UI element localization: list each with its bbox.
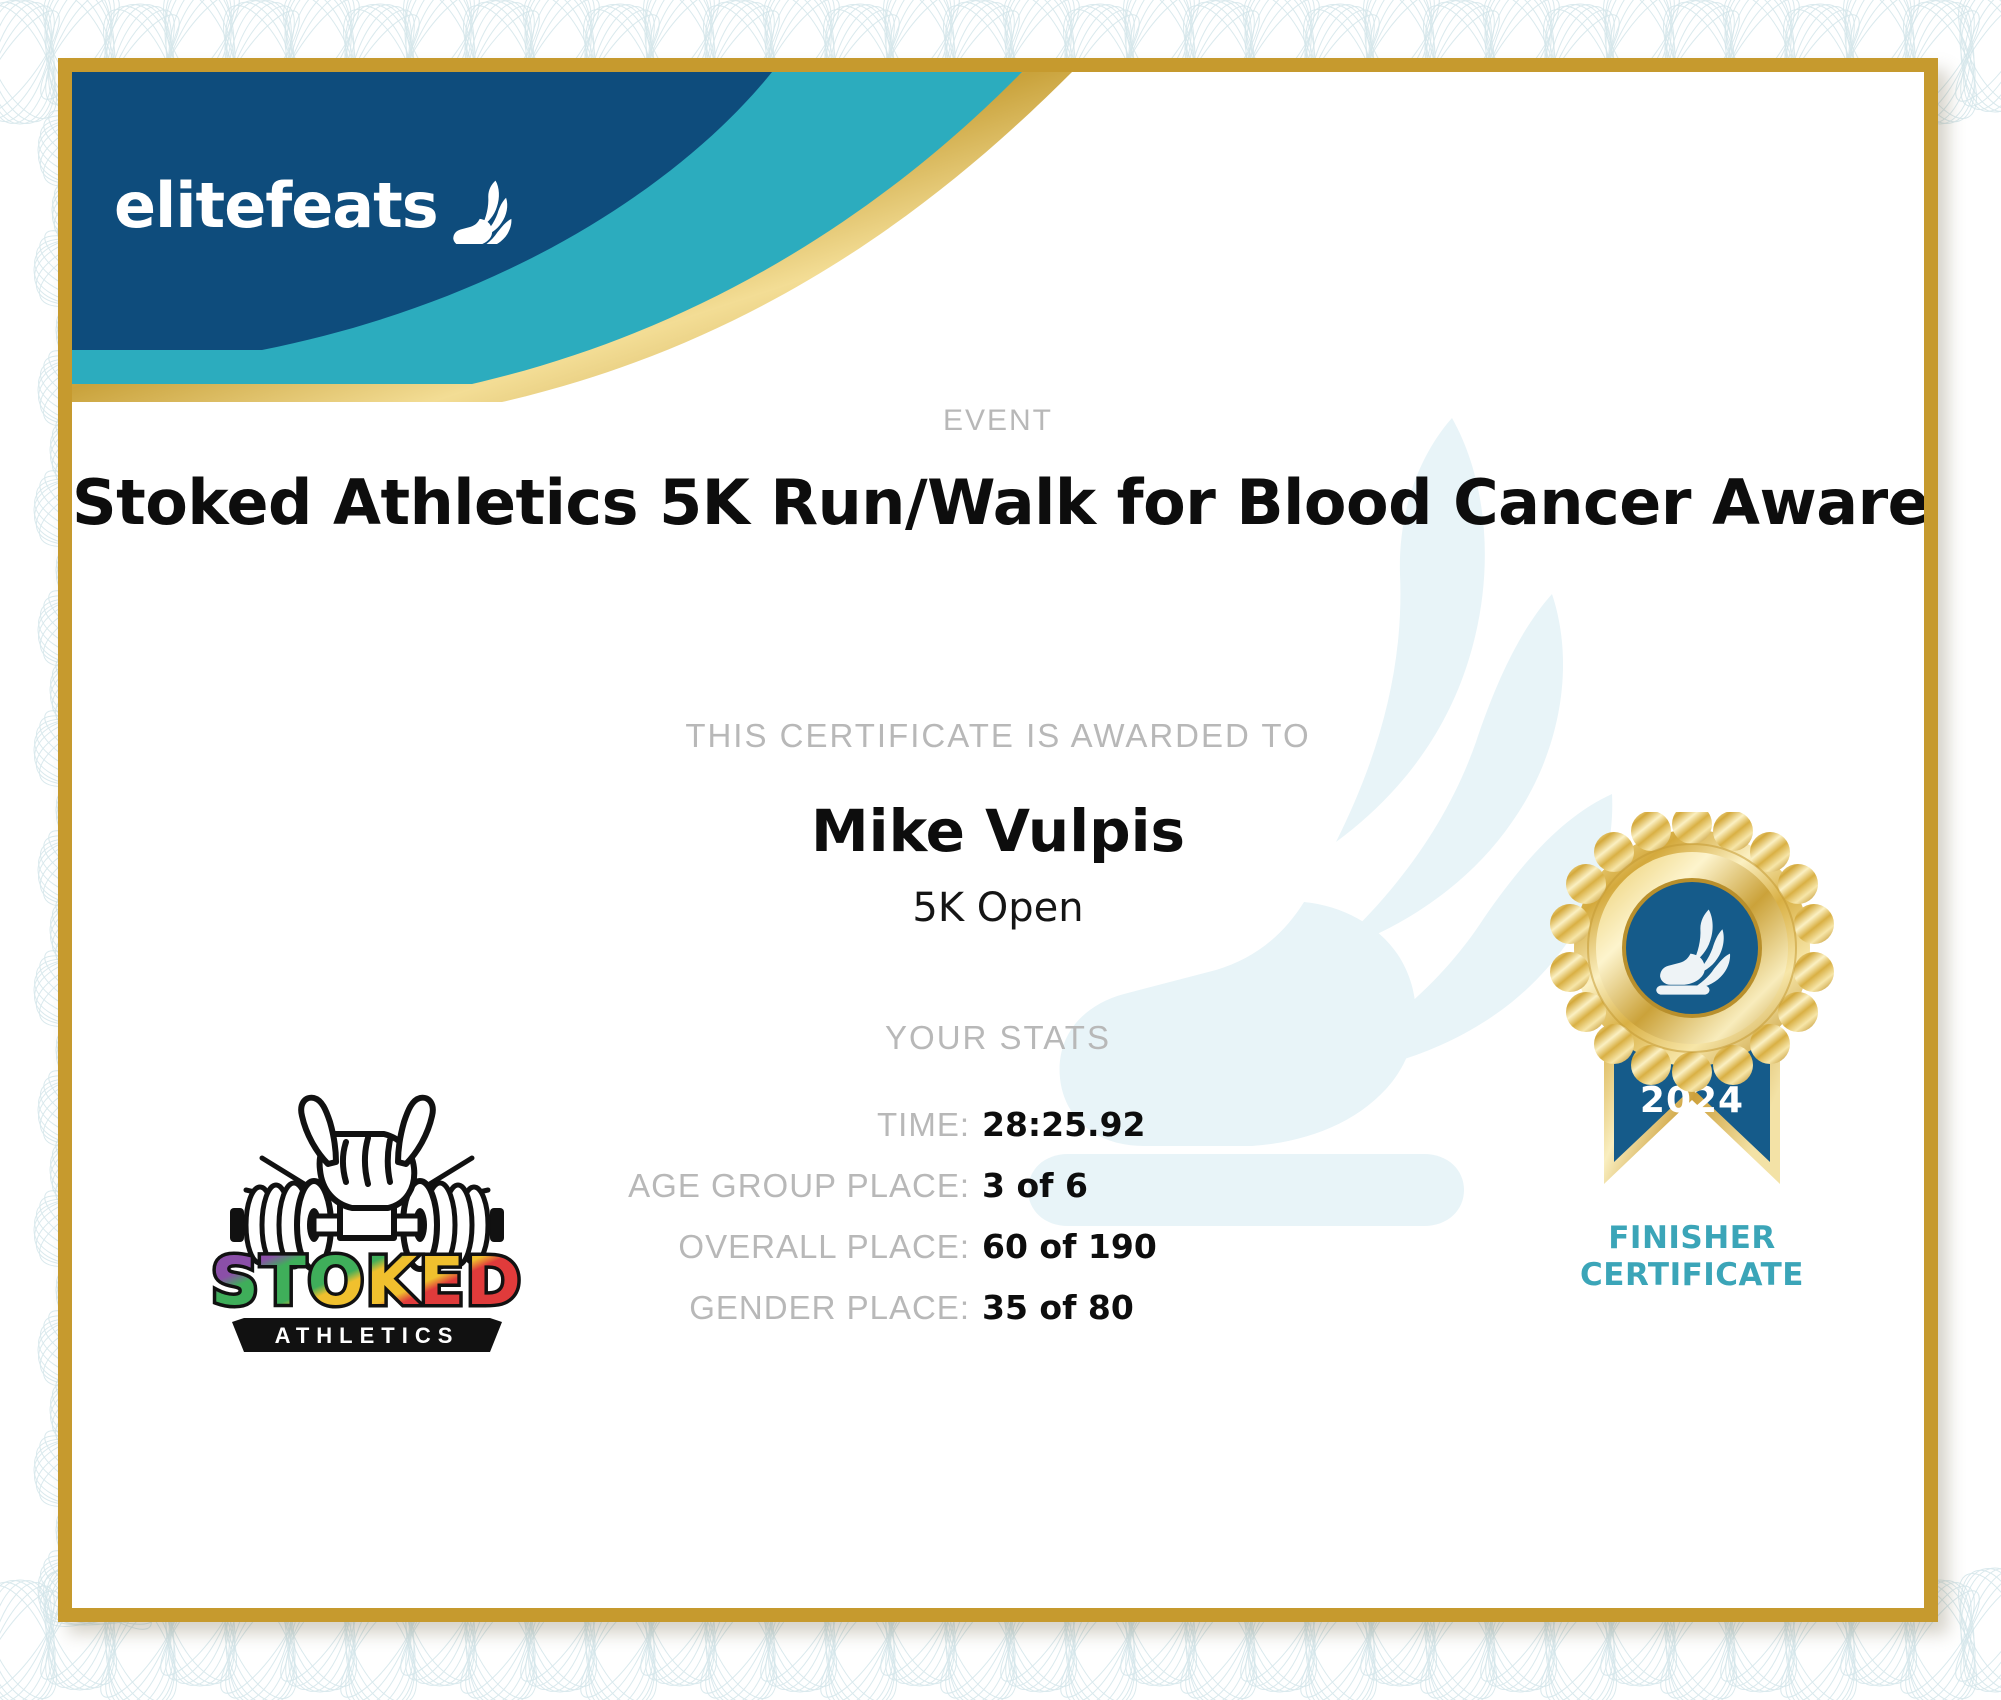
certificate-gold-frame: elitefeats EVENT Stoked Athl bbox=[58, 58, 1938, 1622]
stoked-wordmark: STOKED bbox=[211, 1243, 523, 1320]
medal-caption: FINISHER CERTIFICATE bbox=[1512, 1220, 1872, 1293]
certificate-header-banner: elitefeats bbox=[72, 72, 1924, 402]
stoked-athletics-logo: STOKED ATHLETICS bbox=[202, 1072, 532, 1362]
event-title: Stoked Athletics 5K Run/Walk for Blood C… bbox=[72, 466, 1924, 539]
stat-label-gender-place: GENDER PLACE: bbox=[470, 1289, 970, 1327]
stoked-wordmark-text: STOKED bbox=[211, 1243, 523, 1320]
stat-label-time: TIME: bbox=[470, 1106, 970, 1144]
medal-disc bbox=[1550, 812, 1834, 1092]
certificate-body: elitefeats EVENT Stoked Athl bbox=[72, 72, 1924, 1608]
elitefeats-logo: elitefeats bbox=[114, 168, 514, 244]
medal-caption-line1: FINISHER bbox=[1512, 1220, 1872, 1257]
finisher-medal-badge: 2024 bbox=[1512, 812, 1872, 1372]
stat-value-gender-place: 35 of 80 bbox=[970, 1288, 1482, 1327]
athletics-banner-text: ATHLETICS bbox=[275, 1323, 460, 1348]
certificate-page: elitefeats EVENT Stoked Athl bbox=[0, 0, 2001, 1700]
stat-label-age-group-place: AGE GROUP PLACE: bbox=[470, 1167, 970, 1205]
athletics-banner: ATHLETICS bbox=[232, 1318, 502, 1352]
stat-value-age-group-place: 3 of 6 bbox=[970, 1166, 1482, 1205]
elitefeats-wordmark: elitefeats bbox=[114, 175, 438, 237]
winged-foot-icon bbox=[448, 178, 514, 244]
stat-label-overall-place: OVERALL PLACE: bbox=[470, 1228, 970, 1266]
event-label: EVENT bbox=[72, 404, 1924, 438]
medal-caption-line2: CERTIFICATE bbox=[1512, 1257, 1872, 1294]
stat-value-overall-place: 60 of 190 bbox=[970, 1227, 1482, 1266]
awarded-to-label: THIS CERTIFICATE IS AWARDED TO bbox=[72, 717, 1924, 755]
stat-value-time: 28:25.92 bbox=[970, 1105, 1482, 1144]
